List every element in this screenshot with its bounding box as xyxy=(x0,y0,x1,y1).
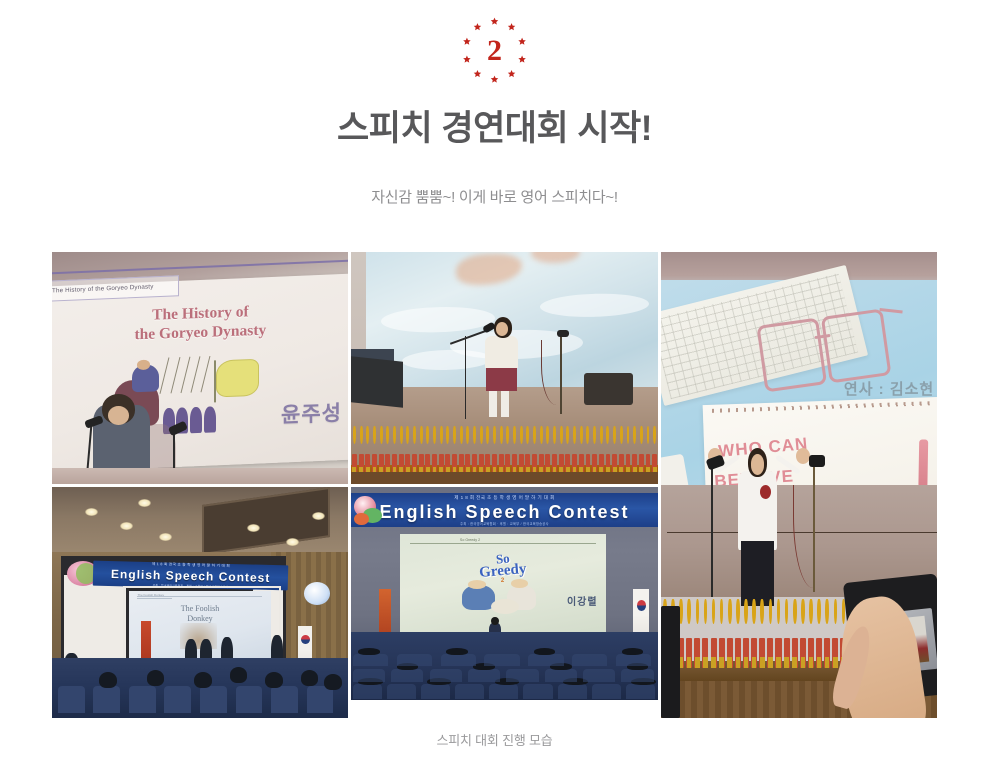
trophy-icon xyxy=(519,426,524,475)
trophy-icon xyxy=(743,599,749,668)
trophy-icon xyxy=(775,599,781,668)
trophy-icon xyxy=(808,599,814,668)
seat xyxy=(484,654,519,666)
seat xyxy=(528,654,563,666)
seat xyxy=(523,684,552,699)
trophy-icon xyxy=(439,426,444,475)
trophy-icon xyxy=(719,599,725,668)
trophy-icon xyxy=(552,426,557,475)
photo-girl-speaking-trophies[interactable] xyxy=(351,252,658,484)
projected-slide: So Greedy 2 So Greedy 2 이강렬 xyxy=(400,534,606,632)
audience-seating xyxy=(351,632,658,700)
trophy-icon xyxy=(392,426,397,475)
seat xyxy=(626,684,655,699)
trophy-icon xyxy=(711,599,717,668)
seat xyxy=(430,669,462,683)
page-subtitle: 자신감 뿜뿜~! 이게 바로 영어 스피치다~! xyxy=(0,151,989,207)
trophy-icon xyxy=(532,426,537,475)
contest-banner: 제 1 8 회 전국 초 등 학 생 영 어 말 하 기 대 회 English… xyxy=(351,493,658,527)
seat xyxy=(572,654,607,666)
trophy-icon xyxy=(626,426,631,475)
trophy-icon xyxy=(459,426,464,475)
trophy-icon xyxy=(579,426,584,475)
gallery-column-left: The History of the Goryeo Dynasty The Hi… xyxy=(52,252,348,718)
seat xyxy=(583,669,615,683)
page-root: 2 스피치 경연대회 시작! 자신감 뿜뿜~! 이게 바로 영어 스피치다~! … xyxy=(0,0,989,757)
trophy-icon xyxy=(412,426,417,475)
trophy-icon xyxy=(425,426,430,475)
trophy-icon xyxy=(512,426,517,475)
microphone-stand xyxy=(711,466,713,596)
seat xyxy=(506,669,538,683)
trophy-icon xyxy=(359,426,364,475)
trophy-icon xyxy=(525,426,530,475)
trophy-icon xyxy=(702,599,708,668)
photo-goryeo-dynasty[interactable]: The History of the Goryeo Dynasty The Hi… xyxy=(52,252,348,484)
seat xyxy=(621,669,653,683)
trophy-icon xyxy=(472,426,477,475)
photo-so-greedy[interactable]: 제 1 8 회 전국 초 등 학 생 영 어 말 하 기 대 회 English… xyxy=(351,487,658,700)
section-badge: 2 xyxy=(0,0,989,78)
gallery-column-middle: 제 1 8 회 전국 초 등 학 생 영 어 말 하 기 대 회 English… xyxy=(351,252,658,718)
trophy-icon xyxy=(686,599,692,668)
seat xyxy=(353,669,385,683)
slide-title-line2: the Goryeo Dynasty xyxy=(134,322,266,344)
photo-who-can-believe[interactable]: 연사 : 김소현 WHO CAN BELIEVE IT OR NOT? xyxy=(661,252,937,718)
trophy-icon xyxy=(784,599,790,668)
audience-head xyxy=(446,648,467,655)
photo-auditorium-wide[interactable]: 제 1 8 회 전국 초 등 학 생 영 어 말 하 기 대 회 English… xyxy=(52,487,348,718)
microphone-stand xyxy=(465,336,467,420)
trophy-icon xyxy=(612,426,617,475)
speaker-figure xyxy=(738,471,777,550)
seat xyxy=(353,684,382,699)
slide-title-line2: Donkey xyxy=(187,614,212,623)
seat xyxy=(616,654,651,666)
trophy-icon xyxy=(646,426,651,475)
trophy-icon xyxy=(599,426,604,475)
trophy-icon xyxy=(586,426,591,475)
trophy-icon xyxy=(824,599,830,668)
trophy-icon xyxy=(792,599,798,668)
trophy-icon xyxy=(592,426,597,475)
trophy-icon xyxy=(565,426,570,475)
trophy-icon xyxy=(452,426,457,475)
slide-speaker-label: 연사 : 김소현 xyxy=(844,378,934,399)
trophy-icon xyxy=(405,426,410,475)
seat xyxy=(545,669,577,683)
presenter-name: 이강렬 xyxy=(567,593,598,608)
seat xyxy=(391,669,423,683)
trophy-icon xyxy=(694,599,700,668)
trophy-icon xyxy=(727,599,733,668)
banner-subtitle: 제 1 8 회 전국 초 등 학 생 영 어 말 하 기 대 회 xyxy=(351,495,658,501)
trophy-icon xyxy=(445,426,450,475)
trophy-icon xyxy=(767,599,773,668)
trophy-icon xyxy=(492,426,497,475)
trophy-icon xyxy=(539,426,544,475)
trophy-icon xyxy=(399,426,404,475)
trophy-icon xyxy=(485,426,490,475)
page-title: 스피치 경연대회 시작! xyxy=(0,78,989,151)
trophy-icon xyxy=(751,599,757,668)
trophy-icon xyxy=(365,426,370,475)
trophy-icon xyxy=(619,426,624,475)
trophy-icon xyxy=(499,426,504,475)
seat xyxy=(558,684,587,699)
audience-head xyxy=(622,648,643,655)
trophy-icon xyxy=(639,426,644,475)
trophy-icon xyxy=(759,599,765,668)
number-badge: 2 xyxy=(457,13,533,89)
badge-number: 2 xyxy=(457,13,533,89)
slide-title-line1: The History of xyxy=(152,304,248,324)
seat xyxy=(421,684,450,699)
trophy-icon xyxy=(479,426,484,475)
slide-number: 2 xyxy=(501,578,504,584)
trophy-icon xyxy=(352,426,357,475)
photo-gallery: The History of the Goryeo Dynasty The Hi… xyxy=(52,252,937,718)
seat xyxy=(441,654,476,666)
trophy-icon xyxy=(419,426,424,475)
trophy-icon xyxy=(372,426,377,475)
trophy-icon xyxy=(465,426,470,475)
audience-head xyxy=(534,648,555,655)
audience-head xyxy=(358,648,379,655)
trophy-icon xyxy=(832,599,838,668)
trophy-icon xyxy=(652,426,657,475)
trophy-icon xyxy=(572,426,577,475)
slide-title-line1: The Foolish xyxy=(181,604,219,613)
seat xyxy=(468,669,500,683)
trophy-icon xyxy=(800,599,806,668)
slide-tab-label: So Greedy 2 xyxy=(441,538,499,542)
trophy-icon xyxy=(505,426,510,475)
trophy-icon xyxy=(735,599,741,668)
seat xyxy=(353,654,388,666)
banner-footer: 주최 : 한국영어교육협회 · 후원 : 교육부 / 한국교육방송공사 xyxy=(351,521,658,526)
trophy-icon xyxy=(632,426,637,475)
presenter-name: 윤주성 xyxy=(281,397,342,429)
pencil-icon xyxy=(919,439,929,487)
banner-title: English Speech Contest xyxy=(351,502,658,523)
gallery-column-right: 연사 : 김소현 WHO CAN BELIEVE IT OR NOT? xyxy=(661,252,937,718)
gallery-caption: 스피치 대회 진행 모습 xyxy=(0,730,989,749)
seat xyxy=(455,684,484,699)
trophy-icon xyxy=(545,426,550,475)
trophy-icon xyxy=(559,426,564,475)
trophy-icon xyxy=(606,426,611,475)
trophy-icon xyxy=(385,426,390,475)
trophy-icon xyxy=(816,599,822,668)
trophy-icon xyxy=(379,426,384,475)
trophy-icon xyxy=(432,426,437,475)
seat xyxy=(387,684,416,699)
seat xyxy=(397,654,432,666)
seat xyxy=(592,684,621,699)
seat xyxy=(489,684,518,699)
